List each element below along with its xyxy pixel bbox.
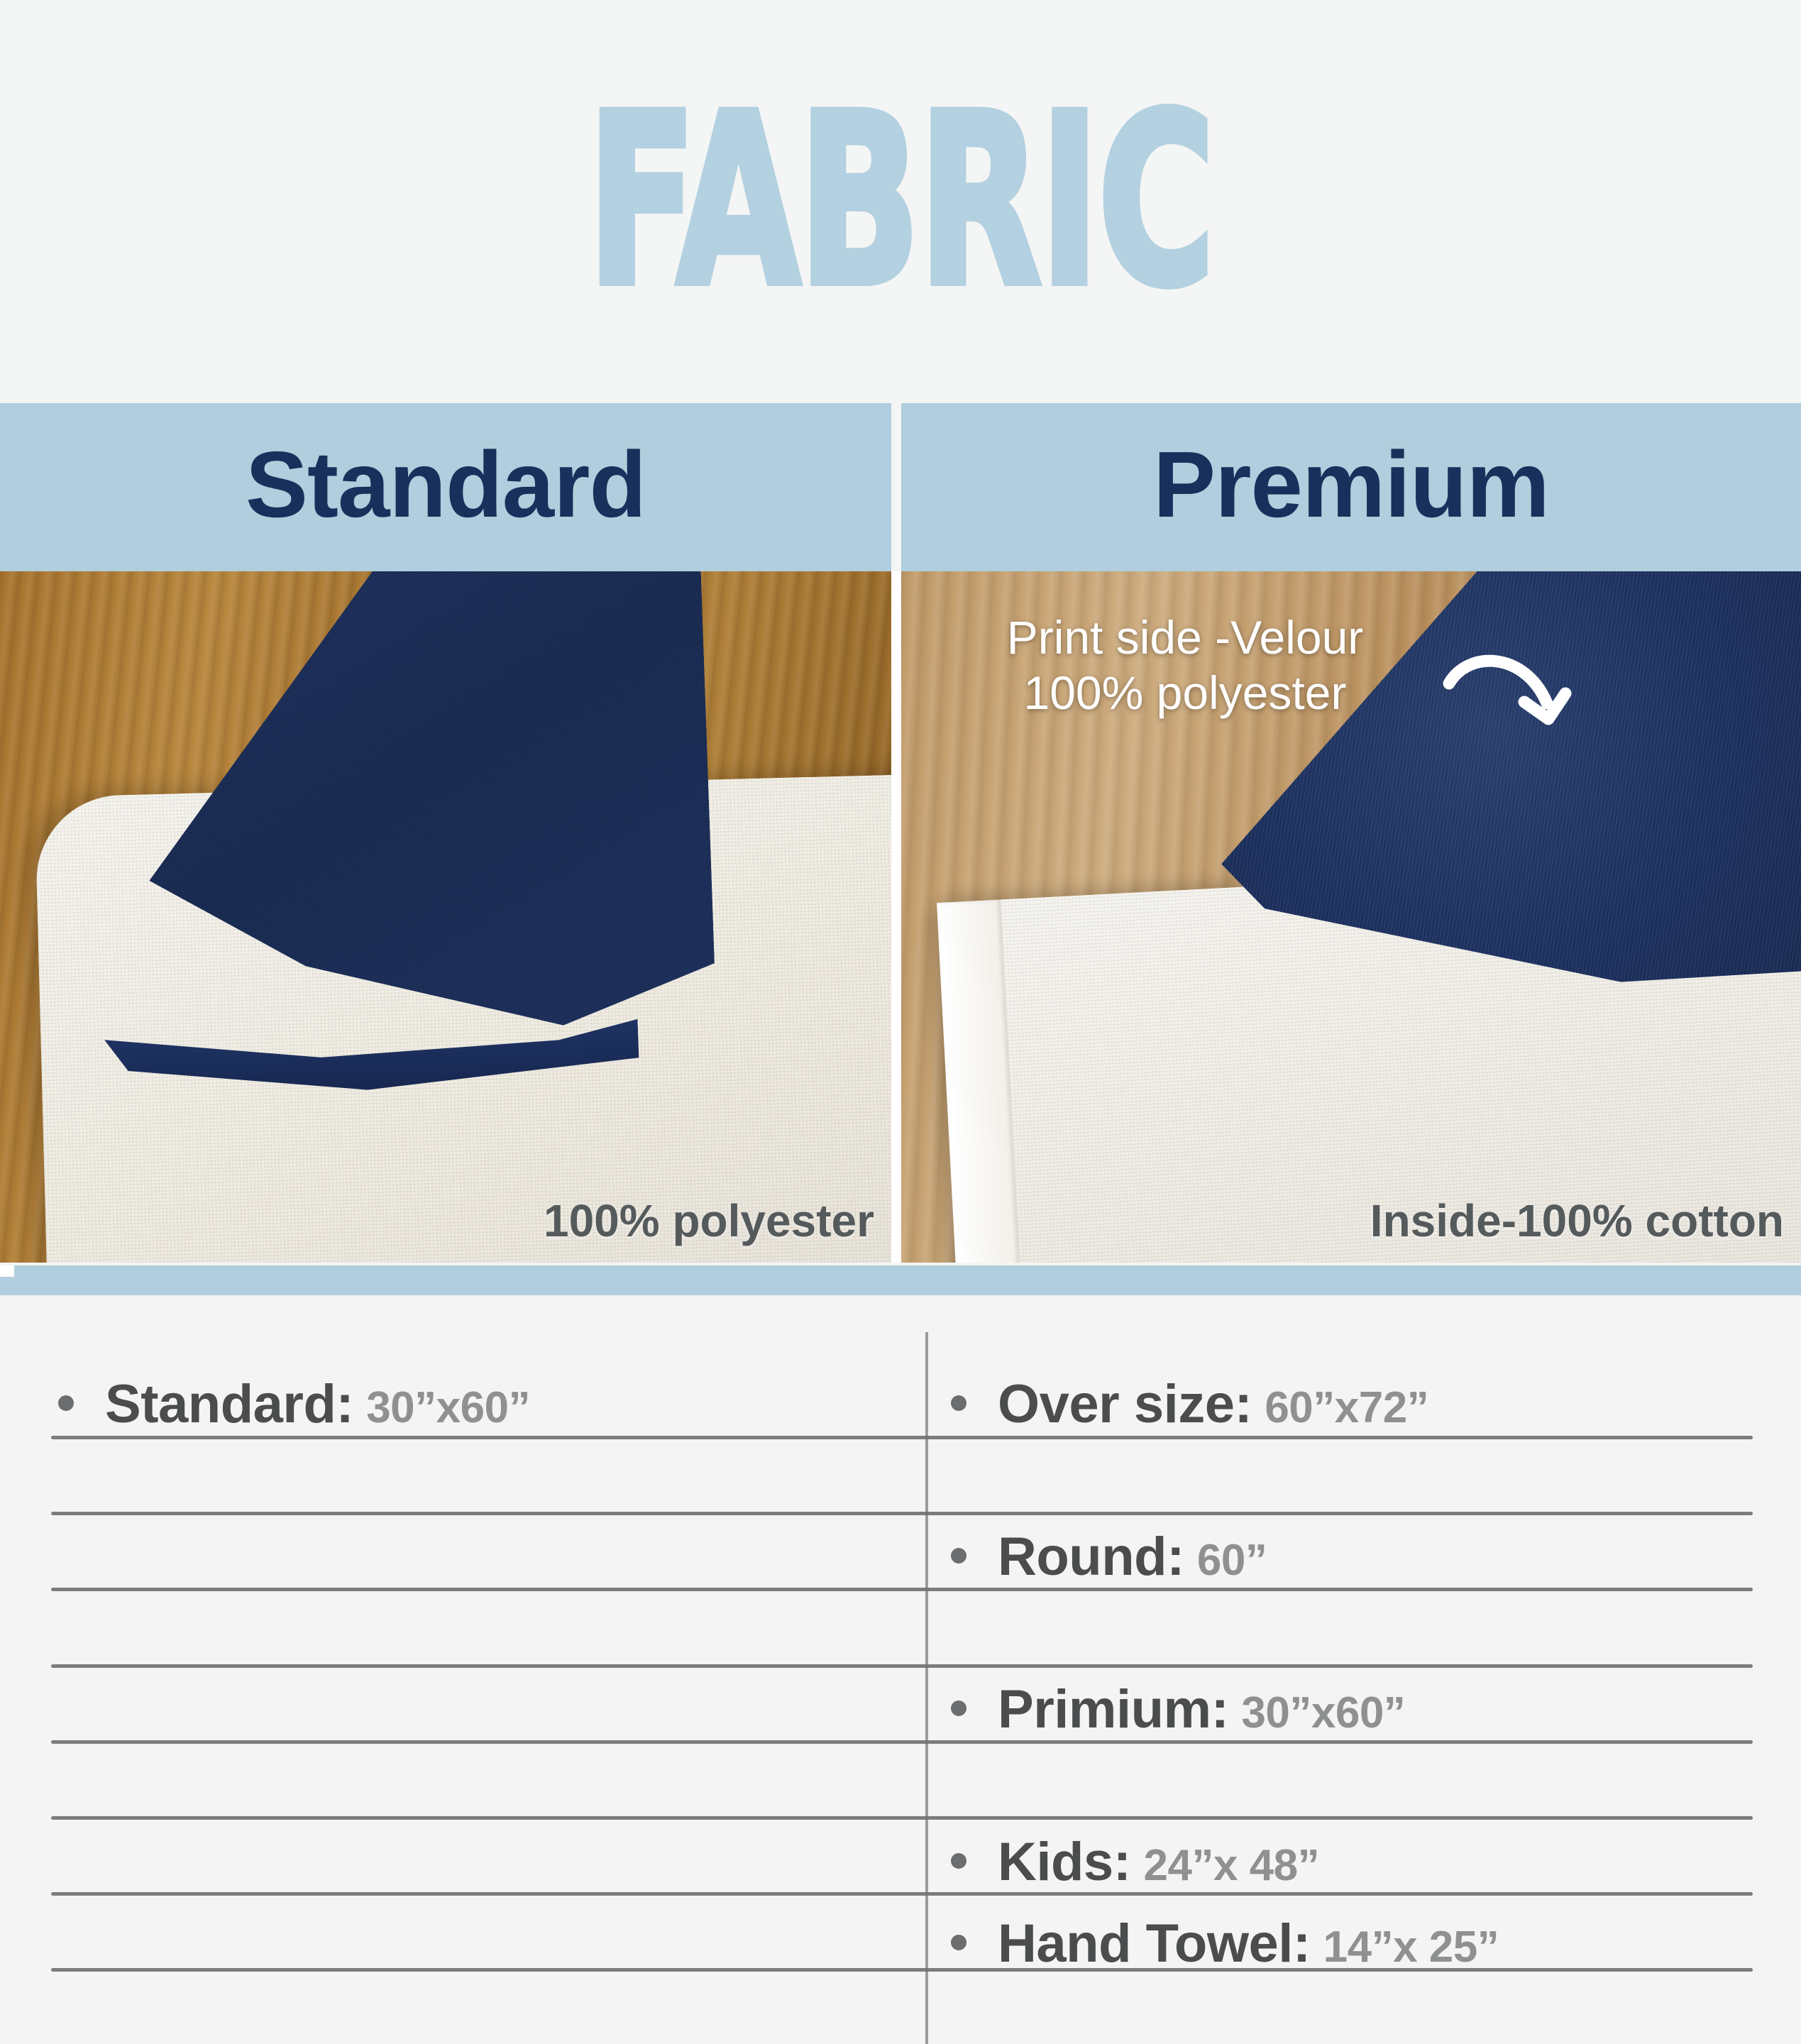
size-value: 24”x 48” [1144,1840,1320,1891]
bullet-icon [951,1935,966,1950]
header-standard: Standard [0,403,891,571]
photo-row: 100% polyester Print side -Velour 100% p… [0,571,1801,1263]
header-standard-label: Standard [246,431,646,538]
list-rule [51,1664,1753,1668]
bullet-icon [58,1395,74,1411]
premium-fabric-photo: Print side -Velour 100% polyester Inside… [901,571,1801,1263]
header-premium-label: Premium [1153,431,1549,538]
size-value: 30”x60” [1241,1688,1405,1738]
list-item[interactable]: Kids: 24”x 48” [951,1831,1319,1893]
size-value: 14”x 25” [1323,1922,1499,1972]
standard-photo-caption: 100% polyester [544,1194,874,1247]
list-rule [51,1436,1753,1439]
list-item[interactable]: Hand Towel: 14”x 25” [951,1913,1499,1974]
size-label: Over size: [998,1373,1252,1435]
size-label: Standard: [105,1373,353,1435]
title-zone: FABRIC [0,0,1801,403]
list-rule [51,1740,1753,1744]
size-label: Round: [998,1526,1184,1588]
blue-separator-bar [0,1265,1801,1295]
size-value: 60” [1197,1535,1267,1586]
page-title: FABRIC [588,90,1213,313]
premium-overlay-line1: Print side -Velour [951,610,1419,666]
premium-overlay-line2: 100% polyester [951,666,1419,721]
photo-divider [891,571,901,1263]
bullet-icon [951,1395,966,1411]
size-value: 60”x72” [1265,1383,1428,1433]
fabric-comparison-infographic: FABRIC Standard Premium 100% polyester [0,0,1801,2044]
bullet-icon [951,1548,966,1564]
header-premium: Premium [901,403,1801,571]
size-label: Kids: [998,1831,1131,1893]
list-item[interactable]: Round: 60” [951,1526,1267,1588]
standard-fabric-photo: 100% polyester [0,571,891,1263]
list-rule [51,1816,1753,1820]
separator-notch [0,1265,14,1277]
size-label: Primium: [998,1678,1228,1740]
list-item[interactable]: Standard: 30”x60” [58,1373,530,1435]
list-item[interactable]: Primium: 30”x60” [951,1678,1405,1740]
size-label: Hand Towel: [998,1913,1311,1974]
bullet-icon [951,1700,966,1716]
list-item[interactable]: Over size: 60”x72” [951,1373,1428,1435]
list-rule [51,1512,1753,1515]
size-list-section: Standard: 30”x60” Over size: 60”x72” Rou… [0,1295,1801,2044]
premium-overlay-text: Print side -Velour 100% polyester [951,610,1419,721]
bullet-icon [951,1853,966,1869]
size-value: 30”x60” [366,1383,530,1433]
column-headers: Standard Premium [0,403,1801,571]
premium-photo-caption: Inside-100% cotton [1370,1194,1784,1247]
list-rule [51,1588,1753,1591]
curved-arrow-down-right-icon [1441,642,1582,756]
header-divider [891,403,901,571]
list-rule [51,1892,1753,1896]
